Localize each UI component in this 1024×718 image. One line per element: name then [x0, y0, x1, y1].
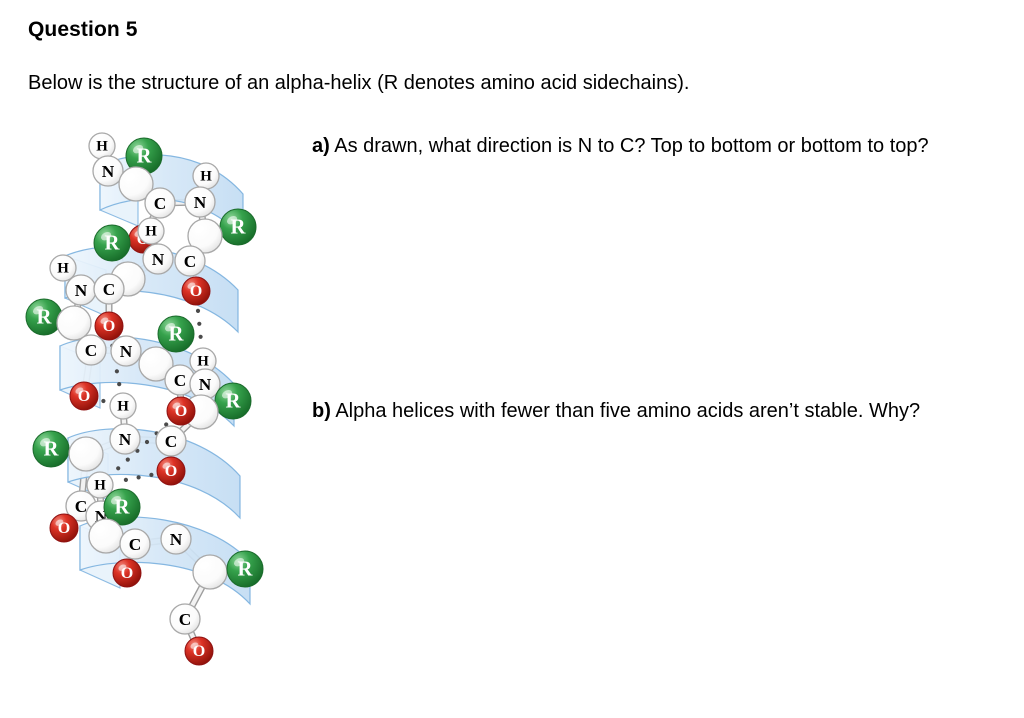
alpha-helix-svg: HNRCHNRCOHNROHNCROCNROHCNROHNCROHCNROCNO… — [18, 128, 308, 688]
question-part-a: a) As drawn, what direction is N to C? T… — [312, 133, 952, 159]
hydrogen-bond — [196, 309, 203, 339]
atom-h: H — [89, 133, 115, 159]
page-title: Question 5 — [28, 18, 138, 42]
atom-r: R — [215, 383, 251, 419]
atom-h: H — [138, 218, 164, 244]
atom-o: O — [157, 457, 185, 485]
part-a-text: As drawn, what direction is N to C? Top … — [330, 135, 929, 157]
atom-o: O — [95, 312, 123, 340]
atom-n: N — [66, 275, 96, 305]
part-b-text: Alpha helices with fewer than five amino… — [331, 400, 920, 422]
atom-o: O — [185, 637, 213, 665]
atom-r: R — [227, 551, 263, 587]
atom-c: C — [120, 529, 150, 559]
atom-n: N — [185, 187, 215, 217]
atom-carbon-alpha — [57, 306, 91, 340]
atom-carbon-alpha — [89, 519, 123, 553]
atom-r: R — [220, 209, 256, 245]
part-a-marker: a) — [312, 135, 330, 157]
atom-carbon-alpha — [69, 437, 103, 471]
atom-n: N — [143, 244, 173, 274]
atom-h: H — [193, 163, 219, 189]
atom-o: O — [167, 397, 195, 425]
question-intro: Below is the structure of an alpha-helix… — [28, 72, 689, 95]
atom-r: R — [158, 316, 194, 352]
atom-r: R — [33, 431, 69, 467]
atom-o: O — [70, 382, 98, 410]
atom-n: N — [161, 524, 191, 554]
atom-c: C — [170, 604, 200, 634]
question-page: Question 5 Below is the structure of an … — [0, 0, 1024, 718]
atom-r: R — [26, 299, 62, 335]
part-b-marker: b) — [312, 400, 331, 422]
atom-h: H — [50, 255, 76, 281]
question-part-b: b) Alpha helices with fewer than five am… — [312, 398, 952, 424]
atom-c: C — [145, 188, 175, 218]
atom-c: C — [175, 246, 205, 276]
atom-r: R — [94, 225, 130, 261]
atom-c: C — [94, 274, 124, 304]
atom-n: N — [190, 369, 220, 399]
atom-c: C — [156, 426, 186, 456]
atom-o: O — [182, 277, 210, 305]
alpha-helix-figure: HNRCHNRCOHNROHNCROCNROHCNROHNCROHCNROCNO… — [18, 128, 308, 688]
atom-h: H — [110, 393, 136, 419]
atom-o: O — [50, 514, 78, 542]
atom-o: O — [113, 559, 141, 587]
atom-n: N — [93, 156, 123, 186]
atom-c: C — [76, 335, 106, 365]
atom-n: N — [111, 336, 141, 366]
atom-n: N — [110, 424, 140, 454]
atom-carbon-alpha — [193, 555, 227, 589]
hydrogen-bond — [101, 399, 105, 403]
